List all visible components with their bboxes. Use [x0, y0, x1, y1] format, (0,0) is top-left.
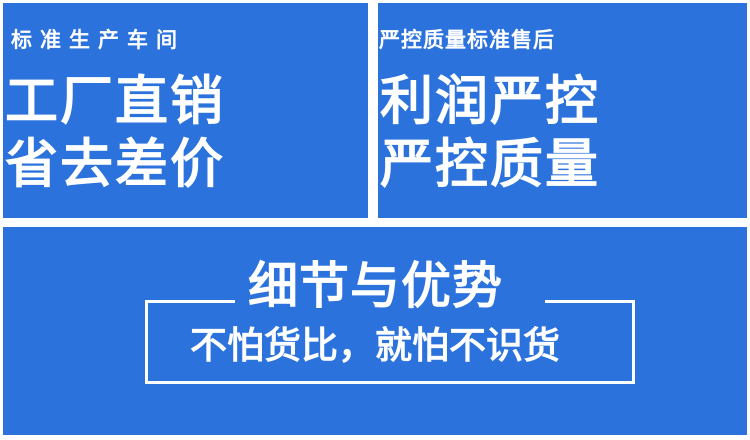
panel-top-left-headline-line2: 省去差价: [3, 138, 368, 191]
panel-bottom: 细节与优势 不怕货比，就怕不识货: [3, 227, 747, 435]
panel-top-left-headline-line1: 工厂直销: [3, 75, 368, 128]
panel-top-right-headline-line1: 利润严控: [378, 75, 747, 128]
panel-top-right: 严控质量标准售后 利润严控 严控质量: [378, 3, 747, 218]
bottom-panel-title: 细节与优势: [3, 261, 747, 311]
panel-top-right-eyebrow: 严控质量标准售后: [378, 30, 747, 51]
panel-top-right-headline-line2: 严控质量: [378, 138, 747, 191]
panel-top-left-eyebrow: 标准生产车间: [3, 30, 368, 51]
panel-top-left: 标准生产车间 工厂直销 省去差价: [3, 3, 368, 218]
promotional-banner: 标准生产车间 工厂直销 省去差价 严控质量标准售后 利润严控 严控质量 细节与优…: [0, 0, 750, 440]
bottom-panel-subtitle: 不怕货比，就怕不识货: [3, 327, 747, 364]
